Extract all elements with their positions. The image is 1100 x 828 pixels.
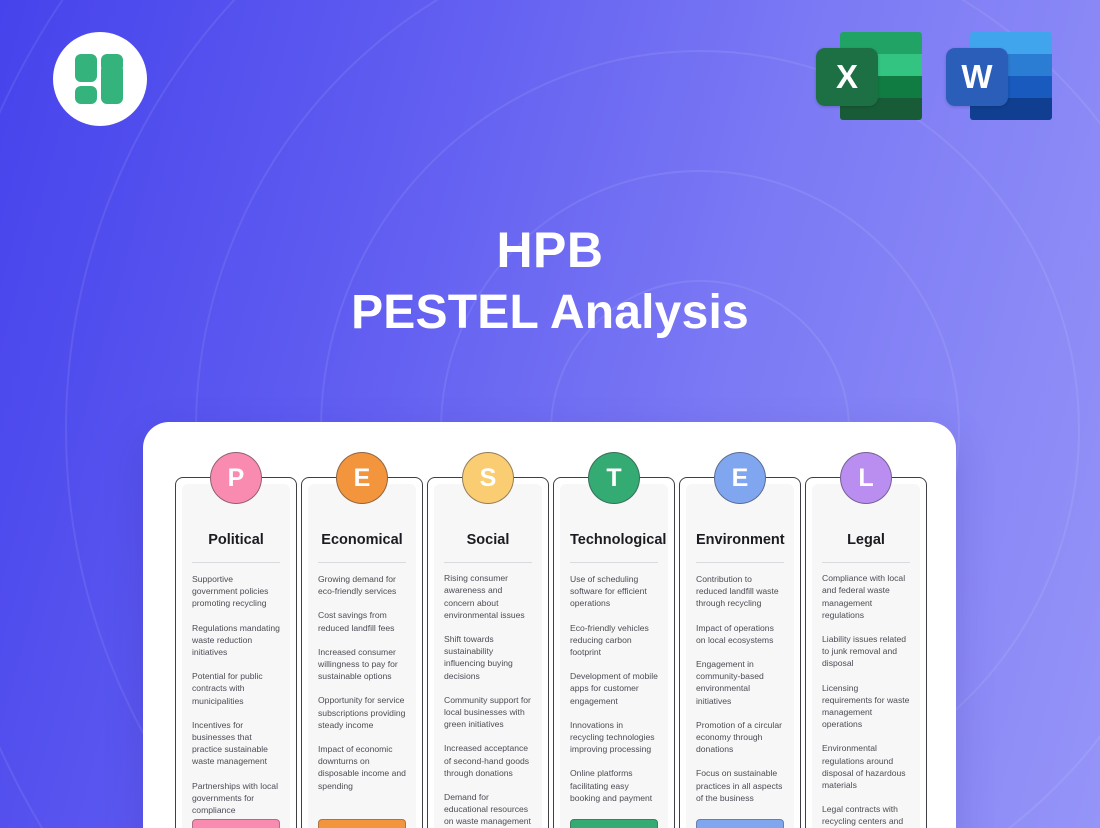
page-subtitle: PESTEL Analysis [0, 282, 1100, 344]
pestel-bullet: Partnerships with local governments for … [192, 780, 280, 817]
pestel-bullet: Promotion of a circular economy through … [696, 719, 784, 756]
pestel-bullet: Demand for educational resources on wast… [444, 791, 532, 828]
pestel-bullet: Liability issues related to junk removal… [822, 633, 910, 670]
pestel-bullet-list: Use of scheduling software for efficient… [570, 573, 658, 804]
divider [570, 562, 658, 563]
pestel-badge-environment: E [714, 452, 766, 504]
pestel-badge-political: P [210, 452, 262, 504]
pestel-bullet: Development of mobile apps for customer … [570, 670, 658, 707]
office-icons-group: X W [816, 28, 1052, 124]
page-title: HPB [0, 218, 1100, 282]
pestel-bullet: Environmental regulations around disposa… [822, 742, 910, 791]
pestel-bullet: Compliance with local and federal waste … [822, 572, 910, 621]
pestel-column-body: EnvironmentContribution to reduced landf… [686, 484, 794, 828]
pestel-column-color-bar [192, 819, 280, 828]
pestel-bullet: Licensing requirements for waste managem… [822, 682, 910, 731]
slide-canvas: X W HPB PESTEL Analysis PPoliticalSuppor… [0, 0, 1100, 828]
pestel-bullet-list: Supportive government policies promoting… [192, 573, 280, 816]
excel-icon[interactable]: X [816, 28, 922, 124]
pestel-bullet: Focus on sustainable practices in all as… [696, 767, 784, 804]
pestel-column-color-bar [318, 819, 406, 828]
excel-icon-letter: X [816, 48, 878, 106]
pestel-bullet: Community support for local businesses w… [444, 694, 532, 731]
pestel-bullet: Engagement in community-based environmen… [696, 658, 784, 707]
pestel-bullet: Impact of operations on local ecosystems [696, 622, 784, 646]
pestel-column-legal[interactable]: LLegalCompliance with local and federal … [805, 477, 927, 828]
pestel-column-title: Economical [318, 532, 406, 548]
pestel-column-economical[interactable]: EEconomicalGrowing demand for eco-friend… [301, 477, 423, 828]
pestel-bullet: Potential for public contracts with muni… [192, 670, 280, 707]
word-icon-letter: W [946, 48, 1008, 106]
pestel-bullet: Shift towards sustainability influencing… [444, 633, 532, 682]
pestel-bullet: Growing demand for eco-friendly services [318, 573, 406, 597]
pestel-column-body: SocialRising consumer awareness and conc… [434, 484, 542, 828]
divider [318, 562, 406, 563]
divider [696, 562, 784, 563]
pestel-bullet: Impact of economic downturns on disposab… [318, 743, 406, 792]
pestel-column-title: Political [192, 532, 280, 548]
divider [192, 562, 280, 563]
pestel-column-social[interactable]: SSocialRising consumer awareness and con… [427, 477, 549, 828]
pestel-bullet: Contribution to reduced landfill waste t… [696, 573, 784, 610]
pestel-columns: PPoliticalSupportive government policies… [175, 477, 927, 828]
pestel-column-body: LegalCompliance with local and federal w… [812, 484, 920, 828]
pestel-bullet: Opportunity for service subscriptions pr… [318, 694, 406, 731]
pestel-bullet: Rising consumer awareness and concern ab… [444, 572, 532, 621]
brand-logo [53, 32, 147, 126]
pestel-bullet: Increased acceptance of second-hand good… [444, 742, 532, 779]
pestel-bullet-list: Growing demand for eco-friendly services… [318, 573, 406, 792]
pestel-column-body: EconomicalGrowing demand for eco-friendl… [308, 484, 416, 828]
pestel-column-color-bar [696, 819, 784, 828]
pestel-bullet-list: Rising consumer awareness and concern ab… [444, 572, 532, 828]
pestel-badge-social: S [462, 452, 514, 504]
title-block: HPB PESTEL Analysis [0, 218, 1100, 344]
pestel-panel: PPoliticalSupportive government policies… [143, 422, 956, 828]
pestel-badge-legal: L [840, 452, 892, 504]
pestel-bullet: Cost savings from reduced landfill fees [318, 609, 406, 633]
pestel-badge-technological: T [588, 452, 640, 504]
pestel-column-color-bar [570, 819, 658, 828]
pestel-bullet: Use of scheduling software for efficient… [570, 573, 658, 610]
pestel-bullet-list: Contribution to reduced landfill waste t… [696, 573, 784, 804]
pestel-column-title: Technological [570, 532, 658, 548]
pestel-column-technological[interactable]: TTechnologicalUse of scheduling software… [553, 477, 675, 828]
pestel-bullet: Regulations mandating waste reduction in… [192, 622, 280, 659]
pestel-bullet-list: Compliance with local and federal waste … [822, 572, 910, 828]
pestel-column-environment[interactable]: EEnvironmentContribution to reduced land… [679, 477, 801, 828]
pestel-column-title: Social [444, 532, 532, 548]
pestel-badge-economical: E [336, 452, 388, 504]
pestel-bullet: Incentives for businesses that practice … [192, 719, 280, 768]
pestel-column-political[interactable]: PPoliticalSupportive government policies… [175, 477, 297, 828]
pestel-bullet: Innovations in recycling technologies im… [570, 719, 658, 756]
pestel-bullet: Increased consumer willingness to pay fo… [318, 646, 406, 683]
pestel-column-title: Legal [822, 532, 910, 548]
pestel-bullet: Online platforms facilitating easy booki… [570, 767, 658, 804]
pestel-bullet: Eco-friendly vehicles reducing carbon fo… [570, 622, 658, 659]
pestel-column-body: TechnologicalUse of scheduling software … [560, 484, 668, 828]
grid-tiles-logo-icon [75, 54, 125, 104]
pestel-bullet: Supportive government policies promoting… [192, 573, 280, 610]
pestel-column-title: Environment [696, 532, 784, 548]
pestel-column-body: PoliticalSupportive government policies … [182, 484, 290, 828]
word-icon[interactable]: W [946, 28, 1052, 124]
pestel-bullet: Legal contracts with recycling centers a… [822, 803, 910, 828]
